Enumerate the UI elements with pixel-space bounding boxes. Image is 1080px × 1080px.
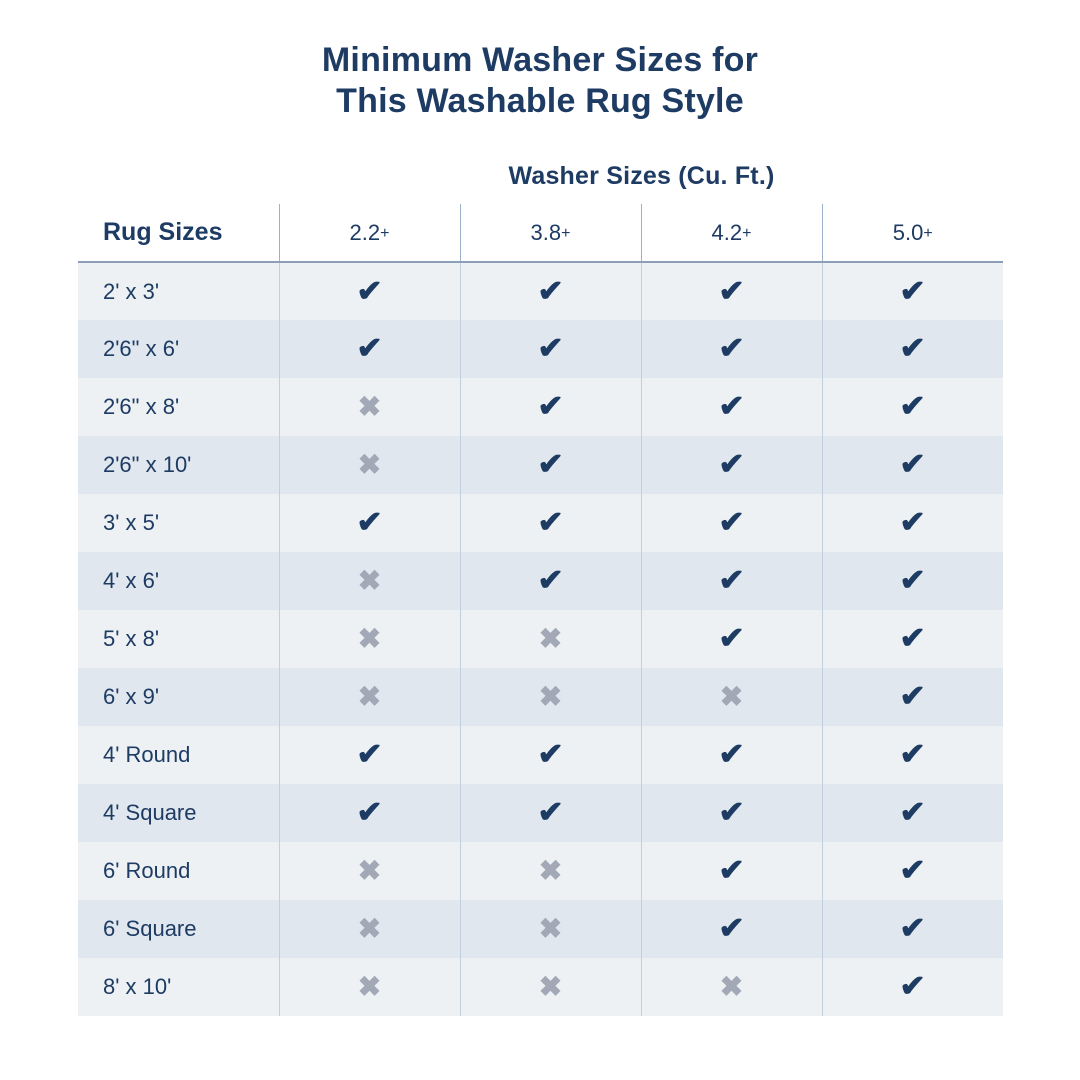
table-cell-fit-status: ✔ — [279, 784, 460, 842]
table-row: 2'6" x 6'✔✔✔✔ — [78, 320, 1003, 378]
column-header-3-8: 3.8+ — [460, 204, 641, 262]
check-icon: ✔ — [537, 334, 563, 364]
check-icon: ✔ — [537, 566, 563, 596]
column-header-value: 3.8 — [531, 220, 562, 245]
table-cell-fit-status: ✖ — [641, 668, 822, 726]
table-row: 4' x 6'✖✔✔✔ — [78, 552, 1003, 610]
table-cell-fit-status: ✖ — [460, 610, 641, 668]
column-header-value: 5.0 — [893, 220, 924, 245]
row-header-rug-size: 6' Square — [78, 900, 279, 958]
check-icon: ✔ — [900, 624, 926, 654]
table-header-row: Rug Sizes 2.2+ 3.8+ 4.2+ 5.0+ — [78, 204, 1003, 262]
check-icon: ✔ — [718, 740, 744, 770]
check-icon: ✔ — [900, 798, 926, 828]
table-cell-fit-status: ✔ — [279, 726, 460, 784]
check-icon: ✔ — [718, 856, 744, 886]
table-cell-fit-status: ✖ — [279, 552, 460, 610]
table-cell-fit-status: ✔ — [641, 378, 822, 436]
cross-icon: ✖ — [358, 857, 381, 885]
check-icon: ✔ — [900, 856, 926, 886]
table-row: 6' x 9'✖✖✖✔ — [78, 668, 1003, 726]
row-header-rug-size: 3' x 5' — [78, 494, 279, 552]
table-cell-fit-status: ✖ — [641, 958, 822, 1016]
column-header-4-2: 4.2+ — [641, 204, 822, 262]
cross-icon: ✖ — [539, 973, 562, 1001]
comparison-table-wrapper: Rug Sizes 2.2+ 3.8+ 4.2+ 5.0+ 2' x 3'✔✔✔… — [78, 204, 1003, 1016]
column-header-plus: + — [742, 225, 751, 242]
table-cell-fit-status: ✖ — [279, 958, 460, 1016]
check-icon: ✔ — [718, 914, 744, 944]
check-icon: ✔ — [900, 740, 926, 770]
row-header-rug-size: 8' x 10' — [78, 958, 279, 1016]
table-cell-fit-status: ✖ — [279, 436, 460, 494]
table-cell-fit-status: ✔ — [641, 726, 822, 784]
table-cell-fit-status: ✔ — [460, 494, 641, 552]
check-icon: ✔ — [718, 566, 744, 596]
column-header-plus: + — [561, 225, 570, 242]
check-icon: ✔ — [537, 740, 563, 770]
table-cell-fit-status: ✔ — [641, 262, 822, 320]
row-header-rug-size: 2'6" x 10' — [78, 436, 279, 494]
check-icon: ✔ — [718, 450, 744, 480]
table-cell-fit-status: ✔ — [641, 494, 822, 552]
table-cell-fit-status: ✔ — [822, 552, 1003, 610]
check-icon: ✔ — [537, 798, 563, 828]
cross-icon: ✖ — [358, 915, 381, 943]
page-title-line-2: This Washable Rug Style — [0, 81, 1080, 122]
table-cell-fit-status: ✔ — [822, 610, 1003, 668]
column-group-label: Washer Sizes (Cu. Ft.) — [280, 162, 1003, 191]
table-row: 8' x 10'✖✖✖✔ — [78, 958, 1003, 1016]
table-cell-fit-status: ✔ — [822, 436, 1003, 494]
column-header-plus: + — [923, 225, 932, 242]
check-icon: ✔ — [356, 334, 382, 364]
cross-icon: ✖ — [358, 451, 381, 479]
table-row: 6' Square✖✖✔✔ — [78, 900, 1003, 958]
column-header-plus: + — [380, 225, 389, 242]
cross-icon: ✖ — [539, 857, 562, 885]
row-header-rug-size: 6' Round — [78, 842, 279, 900]
table-row: 6' Round✖✖✔✔ — [78, 842, 1003, 900]
table-cell-fit-status: ✔ — [822, 784, 1003, 842]
table-cell-fit-status: ✔ — [641, 784, 822, 842]
table-cell-fit-status: ✔ — [822, 378, 1003, 436]
check-icon: ✔ — [718, 624, 744, 654]
check-icon: ✔ — [718, 508, 744, 538]
table-cell-fit-status: ✔ — [641, 900, 822, 958]
table-cell-fit-status: ✔ — [460, 552, 641, 610]
table-cell-fit-status: ✔ — [279, 320, 460, 378]
check-icon: ✔ — [718, 334, 744, 364]
table-cell-fit-status: ✔ — [460, 262, 641, 320]
table-cell-fit-status: ✖ — [460, 842, 641, 900]
check-icon: ✔ — [537, 450, 563, 480]
table-cell-fit-status: ✖ — [279, 668, 460, 726]
table-cell-fit-status: ✖ — [460, 958, 641, 1016]
cross-icon: ✖ — [358, 683, 381, 711]
washer-size-table: Rug Sizes 2.2+ 3.8+ 4.2+ 5.0+ 2' x 3'✔✔✔… — [78, 204, 1003, 1016]
column-header-5-0: 5.0+ — [822, 204, 1003, 262]
check-icon: ✔ — [537, 277, 563, 307]
page-title-line-1: Minimum Washer Sizes for — [0, 40, 1080, 81]
check-icon: ✔ — [900, 508, 926, 538]
check-icon: ✔ — [900, 277, 926, 307]
table-cell-fit-status: ✔ — [460, 320, 641, 378]
table-cell-fit-status: ✔ — [822, 726, 1003, 784]
table-cell-fit-status: ✔ — [460, 436, 641, 494]
row-header-rug-size: 2'6" x 8' — [78, 378, 279, 436]
table-cell-fit-status: ✔ — [822, 900, 1003, 958]
table-cell-fit-status: ✖ — [279, 610, 460, 668]
check-icon: ✔ — [900, 334, 926, 364]
table-cell-fit-status: ✔ — [641, 610, 822, 668]
row-header-rug-size: 5' x 8' — [78, 610, 279, 668]
page-title: Minimum Washer Sizes for This Washable R… — [0, 40, 1080, 122]
table-cell-fit-status: ✔ — [822, 262, 1003, 320]
row-header-rug-size: 4' Square — [78, 784, 279, 842]
cross-icon: ✖ — [358, 393, 381, 421]
table-cell-fit-status: ✖ — [279, 900, 460, 958]
cross-icon: ✖ — [539, 625, 562, 653]
cross-icon: ✖ — [358, 625, 381, 653]
table-cell-fit-status: ✔ — [822, 958, 1003, 1016]
table-row: 2'6" x 10'✖✔✔✔ — [78, 436, 1003, 494]
table-row: 3' x 5'✔✔✔✔ — [78, 494, 1003, 552]
table-body: 2' x 3'✔✔✔✔2'6" x 6'✔✔✔✔2'6" x 8'✖✔✔✔2'6… — [78, 262, 1003, 1016]
table-cell-fit-status: ✔ — [641, 320, 822, 378]
column-header-value: 2.2 — [350, 220, 381, 245]
table-cell-fit-status: ✔ — [822, 668, 1003, 726]
check-icon: ✔ — [356, 740, 382, 770]
check-icon: ✔ — [718, 277, 744, 307]
column-header-value: 4.2 — [712, 220, 743, 245]
table-cell-fit-status: ✔ — [641, 842, 822, 900]
column-header-rug-sizes: Rug Sizes — [78, 204, 279, 262]
table-cell-fit-status: ✔ — [460, 378, 641, 436]
table-cell-fit-status: ✔ — [460, 784, 641, 842]
check-icon: ✔ — [356, 277, 382, 307]
table-cell-fit-status: ✔ — [460, 726, 641, 784]
row-header-rug-size: 2'6" x 6' — [78, 320, 279, 378]
table-row: 4' Square✔✔✔✔ — [78, 784, 1003, 842]
row-header-rug-size: 4' x 6' — [78, 552, 279, 610]
check-icon: ✔ — [356, 508, 382, 538]
check-icon: ✔ — [537, 508, 563, 538]
check-icon: ✔ — [718, 798, 744, 828]
table-row: 4' Round✔✔✔✔ — [78, 726, 1003, 784]
table-cell-fit-status: ✔ — [279, 494, 460, 552]
table-cell-fit-status: ✔ — [822, 842, 1003, 900]
check-icon: ✔ — [356, 798, 382, 828]
table-cell-fit-status: ✔ — [641, 436, 822, 494]
check-icon: ✔ — [900, 914, 926, 944]
table-row: 5' x 8'✖✖✔✔ — [78, 610, 1003, 668]
row-header-rug-size: 2' x 3' — [78, 262, 279, 320]
check-icon: ✔ — [718, 392, 744, 422]
infographic-page: Minimum Washer Sizes for This Washable R… — [0, 0, 1080, 1080]
column-header-2-2: 2.2+ — [279, 204, 460, 262]
check-icon: ✔ — [900, 972, 926, 1002]
table-cell-fit-status: ✔ — [822, 320, 1003, 378]
check-icon: ✔ — [900, 682, 926, 712]
cross-icon: ✖ — [720, 683, 743, 711]
cross-icon: ✖ — [358, 973, 381, 1001]
table-cell-fit-status: ✖ — [279, 842, 460, 900]
table-cell-fit-status: ✔ — [822, 494, 1003, 552]
cross-icon: ✖ — [720, 973, 743, 1001]
cross-icon: ✖ — [539, 683, 562, 711]
table-row: 2'6" x 8'✖✔✔✔ — [78, 378, 1003, 436]
table-cell-fit-status: ✔ — [641, 552, 822, 610]
check-icon: ✔ — [537, 392, 563, 422]
row-header-rug-size: 4' Round — [78, 726, 279, 784]
check-icon: ✔ — [900, 450, 926, 480]
table-cell-fit-status: ✖ — [460, 668, 641, 726]
table-cell-fit-status: ✔ — [279, 262, 460, 320]
check-icon: ✔ — [900, 566, 926, 596]
row-header-rug-size: 6' x 9' — [78, 668, 279, 726]
cross-icon: ✖ — [358, 567, 381, 595]
table-row: 2' x 3'✔✔✔✔ — [78, 262, 1003, 320]
check-icon: ✔ — [900, 392, 926, 422]
table-head: Rug Sizes 2.2+ 3.8+ 4.2+ 5.0+ — [78, 204, 1003, 262]
table-cell-fit-status: ✖ — [279, 378, 460, 436]
table-cell-fit-status: ✖ — [460, 900, 641, 958]
cross-icon: ✖ — [539, 915, 562, 943]
